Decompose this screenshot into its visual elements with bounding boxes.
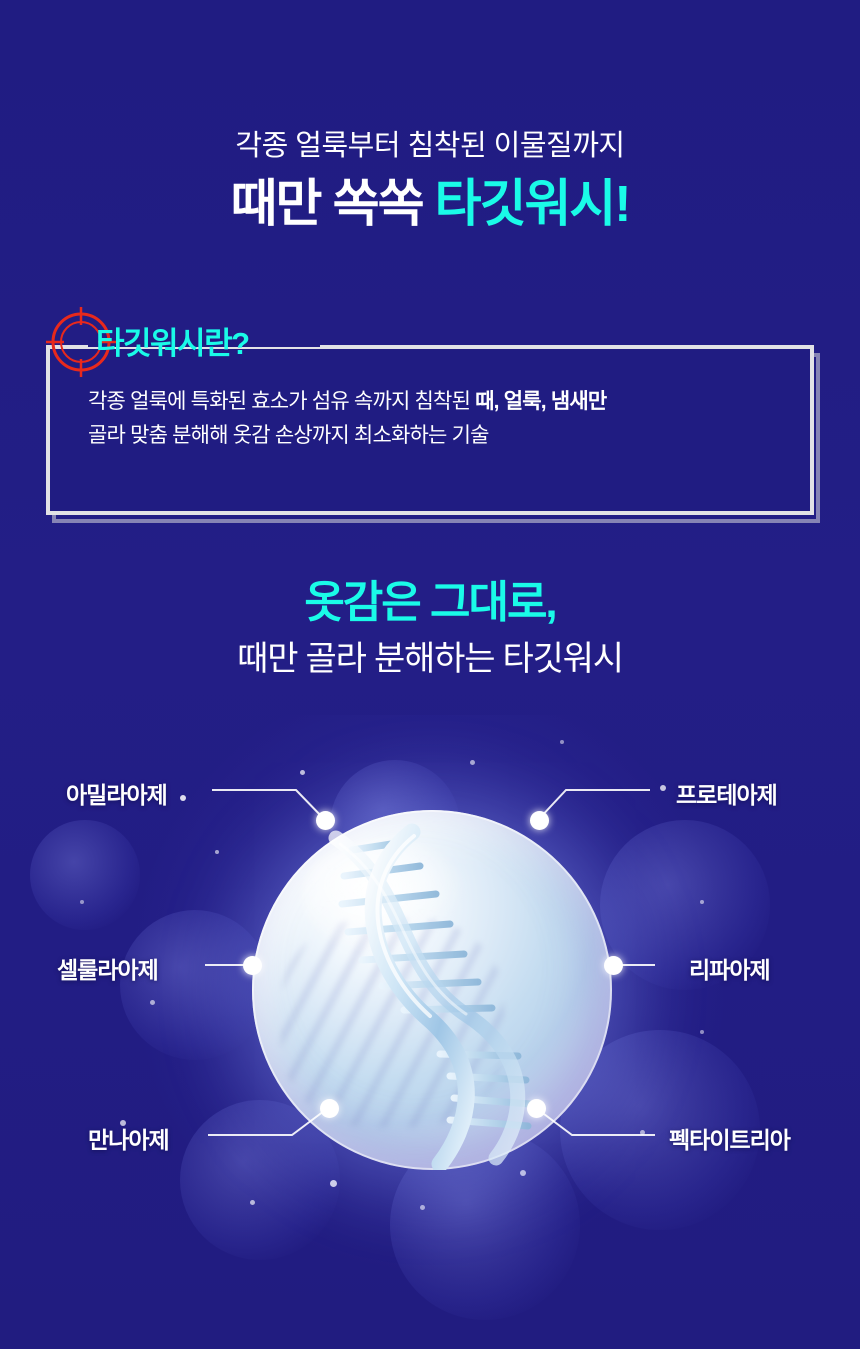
headline-main-white: 때만 쏙쏙 [231,175,423,232]
particle [80,900,84,904]
particle [520,1170,526,1176]
top-headline-block: 각종 얼룩부터 침착된 이물질까지 때만 쏙쏙 타깃워시! [0,128,860,232]
connector-node-protease [530,811,549,830]
enzyme-label-amylase: 아밀라아제 [66,776,167,810]
headline-main-cyan: 타깃워시! [435,175,630,232]
enzyme-label-lipase: 리파아제 [689,951,770,985]
enzyme-label-protease: 프로테아제 [676,776,777,810]
connector-node-cellulase [243,956,262,975]
particle [660,785,666,791]
particle [560,740,564,744]
info-box-title: 타깃워시란? [96,318,249,363]
connector-node-lipase [604,956,623,975]
particle [640,1130,645,1135]
particle [470,760,475,765]
particle [180,795,186,801]
particle [700,1030,704,1034]
enzyme-label-cellulase: 셀룰라아제 [57,951,158,985]
particle [250,1200,255,1205]
headline-eyebrow: 각종 얼룩부터 침착된 이물질까지 [0,128,860,164]
glass-sphere [252,810,612,1170]
info-box-body: 각종 얼룩에 특화된 효소가 섬유 속까지 침착된 때, 얼룩, 냄새만 골라 … [88,385,784,453]
connector-node-amylase [316,811,335,830]
enzyme-diagram: 아밀라아제 프로테아제 셀룰라아제 리파아제 만나아제 펙타이트리아 [0,700,860,1280]
info-box-body-line-2: 골라 맞춤 분해해 옷감 손상까지 최소화하는 기술 [88,419,784,453]
section-headline-line-1: 옷감은 그대로, [0,578,860,629]
particle [300,770,305,775]
bokeh-blob [120,910,270,1060]
bokeh-blob [30,820,140,930]
section-headline-block: 옷감은 그대로, 때만 골라 분해하는 타깃워시 [0,578,860,679]
section-headline-line-2: 때만 골라 분해하는 타깃워시 [0,639,860,680]
headline-main: 때만 쏙쏙 타깃워시! [0,176,860,232]
particle [215,850,219,854]
particle [700,900,704,904]
particle [150,1000,155,1005]
connector-node-pectate [527,1099,546,1118]
promo-page: 각종 얼룩부터 침착된 이물질까지 때만 쏙쏙 타깃워시! 타깃워시란? 각종 … [0,0,860,1349]
enzyme-label-mannanase: 만나아제 [88,1121,169,1155]
particle [330,1180,337,1187]
definition-info-box: 타깃워시란? 각종 얼룩에 특화된 효소가 섬유 속까지 침착된 때, 얼룩, … [46,345,814,515]
connector-node-mannanase [320,1099,339,1118]
info-body-bold-text: 때, 얼룩, 냄새만 [475,390,606,413]
info-box-body-line-1: 각종 얼룩에 특화된 효소가 섬유 속까지 침착된 때, 얼룩, 냄새만 [88,385,784,419]
enzyme-label-pectate: 펙타이트리아 [669,1121,790,1155]
particle [420,1205,425,1210]
sphere-rim [252,810,612,1170]
info-body-normal-text: 각종 얼룩에 특화된 효소가 섬유 속까지 침착된 [88,390,475,413]
